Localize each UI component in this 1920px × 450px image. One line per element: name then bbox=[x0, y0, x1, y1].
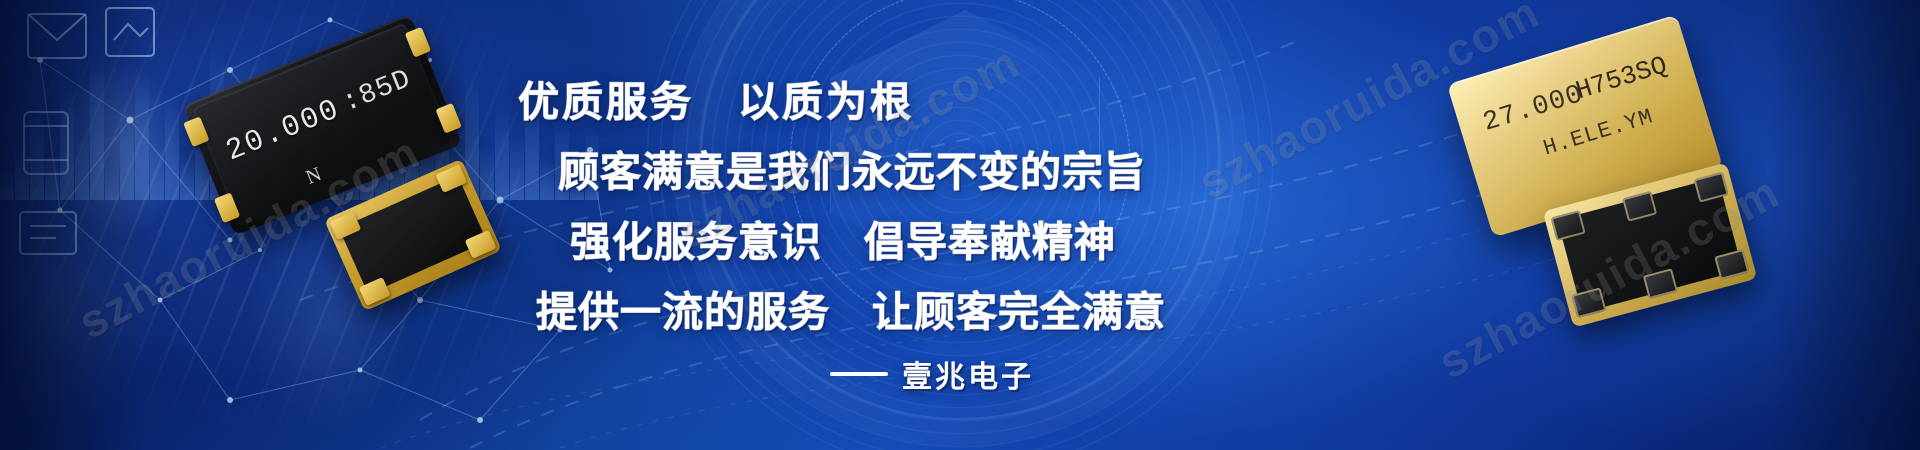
equalizer-bar bbox=[150, 138, 164, 200]
oscillator-code-label: H753SQ bbox=[1572, 50, 1670, 106]
oscillator-face bbox=[339, 176, 487, 295]
slogan-line-1: 优质服务 以质为根 bbox=[518, 82, 914, 123]
slogan-line-3: 强化服务意识 倡导奉献精神 bbox=[570, 222, 1116, 263]
signature-dash-icon bbox=[830, 372, 888, 376]
slogan-line-2: 顾客满意是我们永远不变的宗旨 bbox=[558, 152, 1146, 193]
right-edge-vignette bbox=[1770, 0, 1920, 450]
promotional-banner: 20.000 :85D N 27.000 H753SQ H.ELE.YM 优质服… bbox=[0, 0, 1920, 450]
slogan-line-4: 提供一流的服务 让顾客完全满意 bbox=[536, 292, 1166, 333]
equalizer-bar bbox=[165, 90, 179, 200]
company-signature: 壹兆电子 bbox=[830, 352, 1034, 396]
equalizer-bar bbox=[180, 156, 194, 200]
slogan-block: 优质服务 以质为根 顾客满意是我们永远不变的宗旨 强化服务意识 倡导奉献精神 提… bbox=[500, 40, 1200, 370]
company-name: 壹兆电子 bbox=[902, 352, 1034, 396]
left-edge-vignette bbox=[0, 0, 150, 450]
equalizer-bar bbox=[480, 144, 494, 200]
